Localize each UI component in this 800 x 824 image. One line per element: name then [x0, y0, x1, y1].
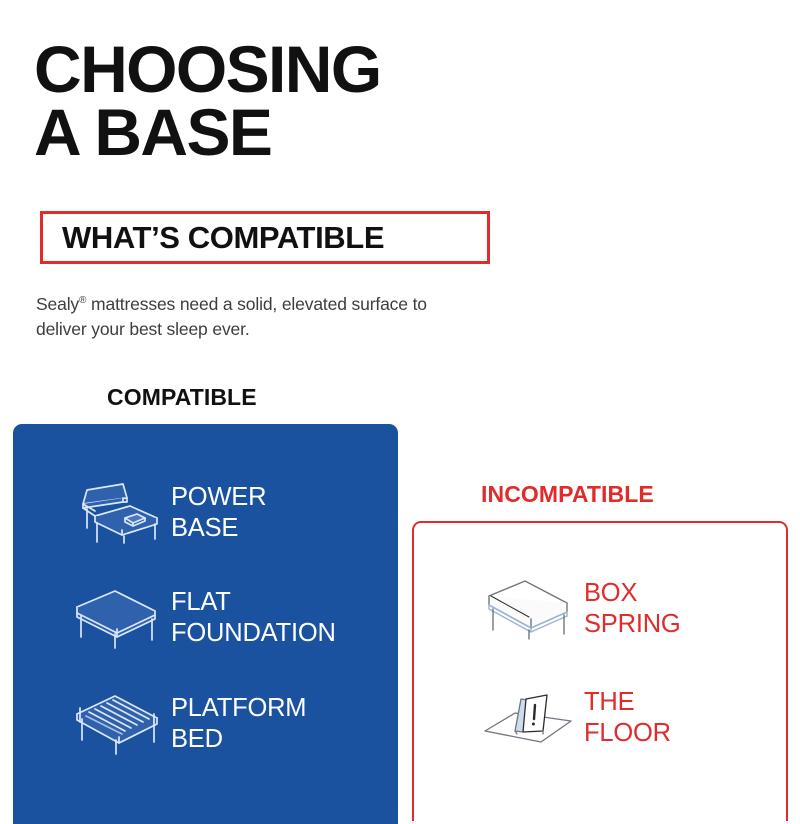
brand-name: Sealy — [36, 294, 79, 314]
compatible-caption: COMPATIBLE — [107, 384, 257, 411]
list-item-label-line-2: BED — [171, 724, 306, 755]
intro-paragraph: Sealy® mattresses need a solid, elevated… — [36, 292, 436, 342]
list-item-flat-foundation[interactable]: FLAT FOUNDATION — [59, 587, 336, 649]
list-item-label-line-2: SPRING — [584, 609, 681, 640]
floor-warning-icon — [472, 687, 584, 749]
list-item-platform-bed[interactable]: PLATFORM BED — [59, 692, 306, 756]
box-spring-icon — [472, 578, 584, 640]
intro-paragraph-rest: mattresses need a solid, elevated surfac… — [36, 294, 427, 339]
list-item-power-base[interactable]: POWER BASE — [59, 482, 266, 544]
list-item-the-floor[interactable]: THE FLOOR — [472, 687, 671, 749]
incompatible-caption: INCOMPATIBLE — [481, 481, 654, 508]
list-item-label: FLAT FOUNDATION — [171, 587, 336, 648]
list-item-label-line-1: FLAT — [171, 588, 231, 616]
subtitle-text: WHAT’S COMPATIBLE — [43, 220, 384, 256]
list-item-label-line-2: BASE — [171, 513, 266, 544]
power-base-icon — [59, 482, 171, 544]
list-item-label: PLATFORM BED — [171, 693, 306, 754]
page-title-line-2: A BASE — [34, 101, 594, 164]
list-item-label-line-1: PLATFORM — [171, 694, 306, 722]
list-item-label-line-1: POWER — [171, 483, 266, 511]
page-title: CHOOSING A BASE — [34, 38, 594, 165]
infographic-canvas: CHOOSING A BASE WHAT’S COMPATIBLE Sealy®… — [0, 0, 800, 800]
flat-foundation-icon — [59, 587, 171, 649]
page-title-line-1: CHOOSING — [34, 38, 594, 101]
list-item-label: THE FLOOR — [584, 687, 671, 748]
platform-bed-icon — [59, 692, 171, 756]
list-item-label-line-1: THE — [584, 688, 634, 716]
subtitle-box: WHAT’S COMPATIBLE — [40, 211, 490, 264]
list-item-box-spring[interactable]: BOX SPRING — [472, 578, 681, 640]
compatible-panel: POWER BASE — [13, 424, 398, 824]
list-item-label: BOX SPRING — [584, 578, 681, 639]
list-item-label-line-2: FLOOR — [584, 718, 671, 749]
list-item-label: POWER BASE — [171, 482, 266, 543]
list-item-label-line-2: FOUNDATION — [171, 618, 336, 649]
incompatible-panel: BOX SPRING — [412, 521, 788, 821]
list-item-label-line-1: BOX — [584, 579, 637, 607]
